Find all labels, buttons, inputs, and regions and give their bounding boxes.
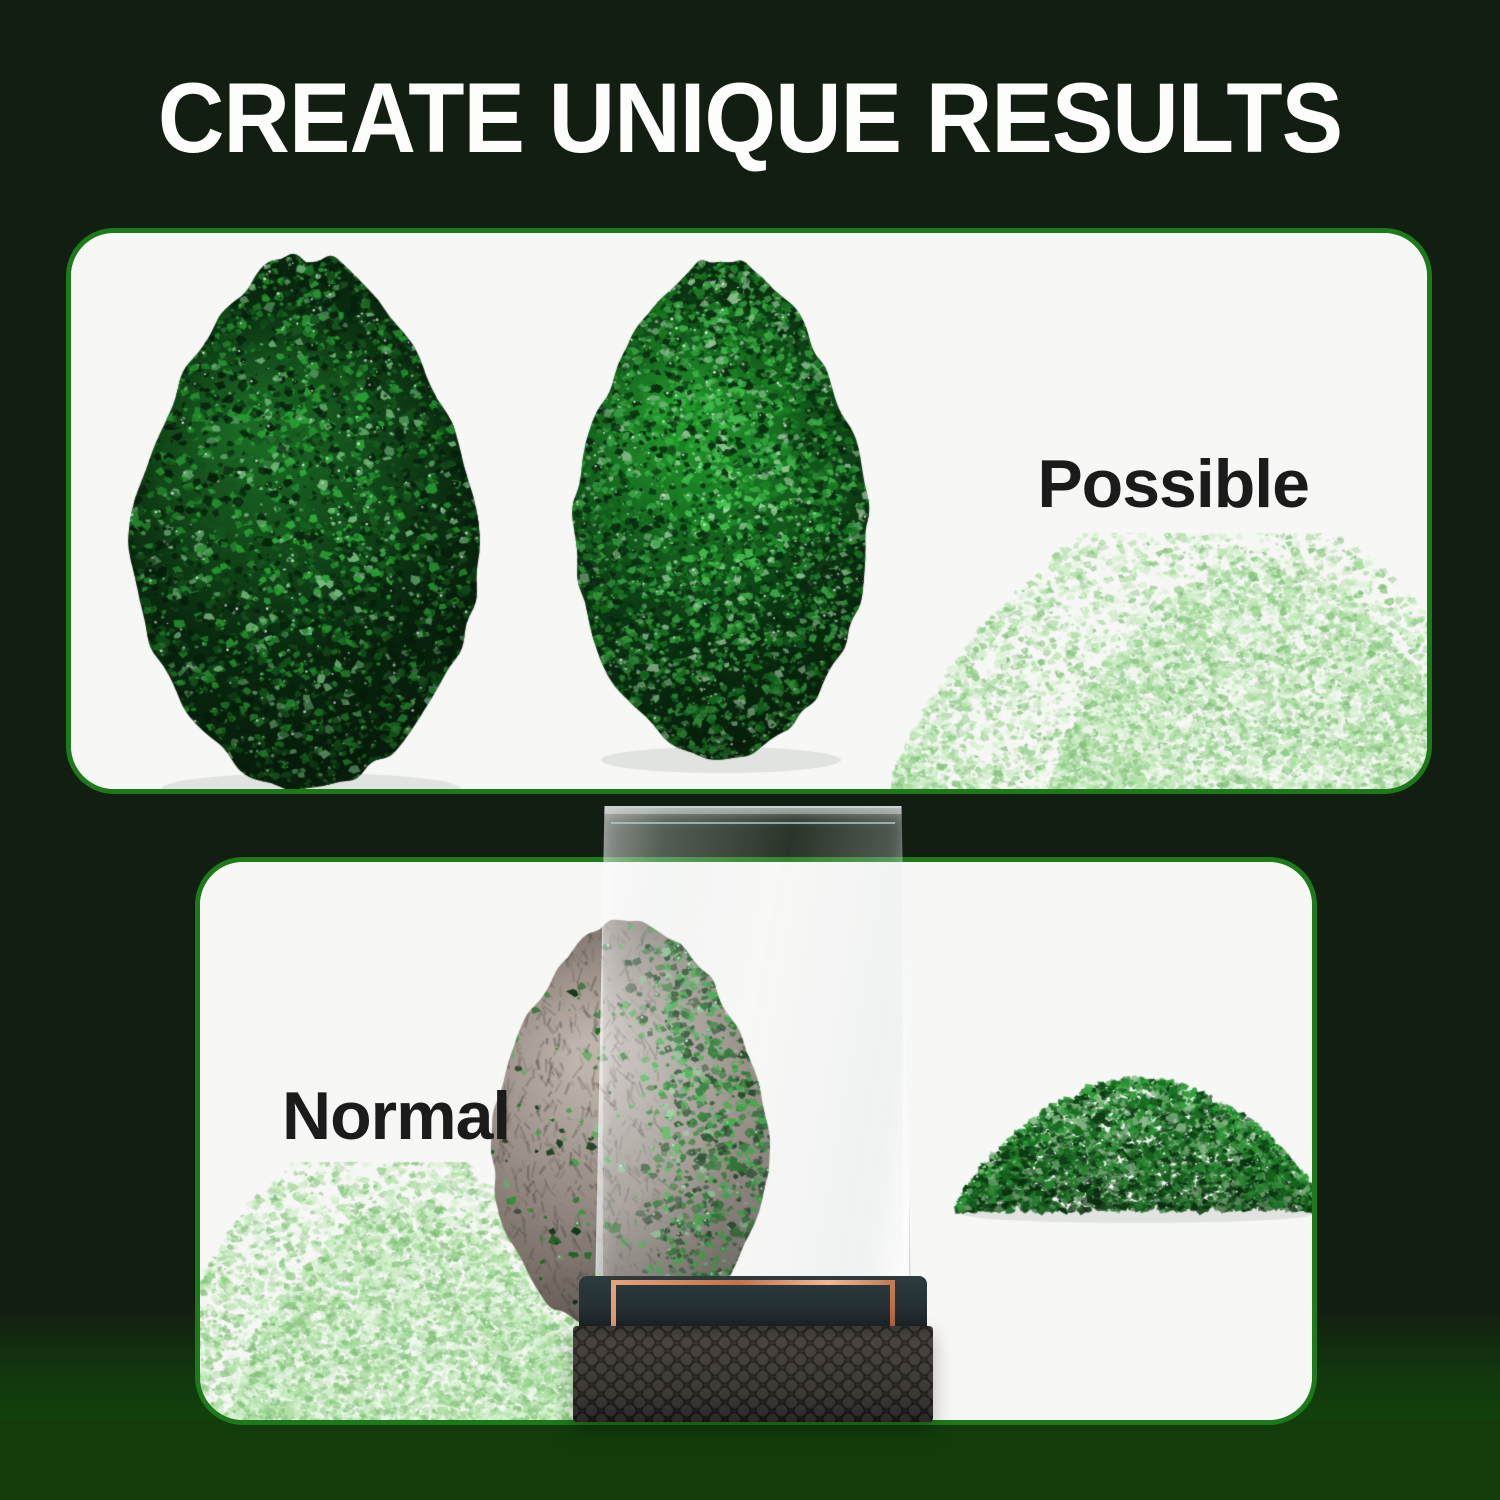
case-copper-ring [611, 1280, 895, 1332]
honeycomb-texture-alt [573, 1326, 933, 1422]
case-base [573, 1326, 933, 1422]
bottom-glow-core [0, 1420, 1500, 1500]
card-label-normal: Normal [282, 1080, 510, 1152]
acrylic-top-edge [611, 822, 895, 824]
page-title: CREATE UNIQUE RESULTS [53, 70, 1448, 166]
card-label-possible: Possible [1037, 448, 1309, 520]
promo-graphic: CREATE UNIQUE RESULTS Possible Normal [0, 0, 1500, 1500]
display-case [573, 806, 933, 1426]
acrylic-cover [595, 806, 911, 1298]
card-possible: Possible [66, 228, 1432, 794]
